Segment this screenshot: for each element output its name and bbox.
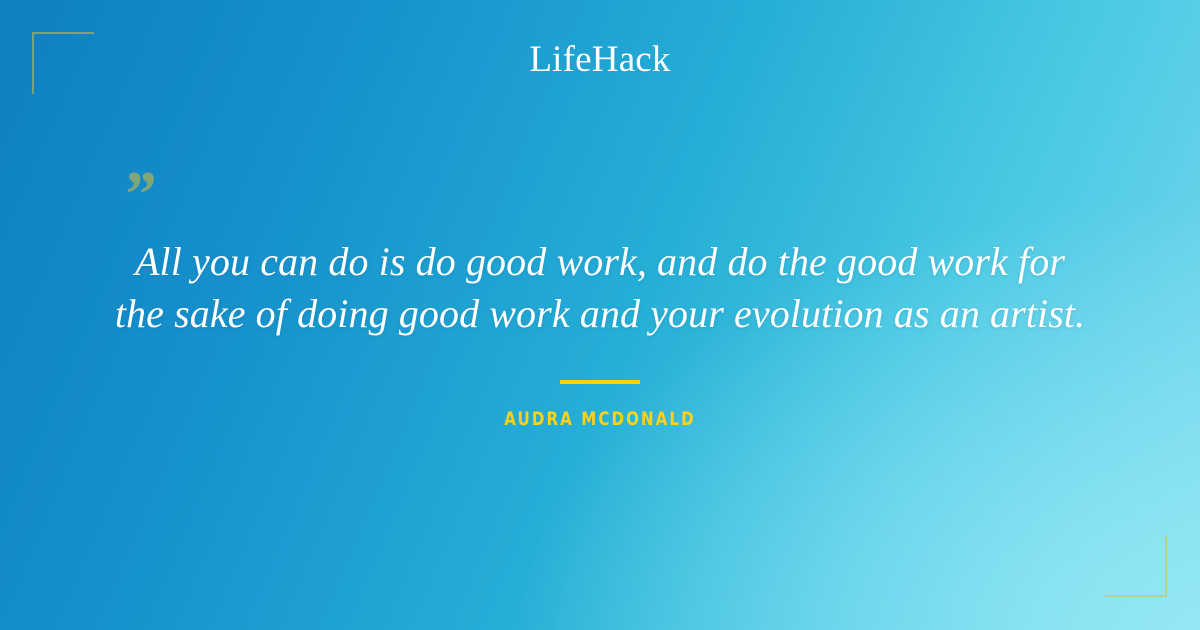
attribution: AUDRA MCDONALD xyxy=(0,380,1200,430)
quote-line: the sake of doing good work and your evo… xyxy=(60,288,1140,340)
corner-bracket-bottom-right-icon xyxy=(1105,535,1167,597)
quote-text: All you can do is do good work, and do t… xyxy=(0,236,1200,340)
quote-line: All you can do is do good work, and do t… xyxy=(60,236,1140,288)
quote-card: LifeHack ” All you can do is do good wor… xyxy=(0,0,1200,630)
author-name: AUDRA MCDONALD xyxy=(72,408,1128,430)
quotation-mark-icon: ” xyxy=(122,162,155,228)
brand-logo: LifeHack xyxy=(0,38,1200,82)
attribution-divider xyxy=(560,380,640,384)
quote-block: ” All you can do is do good work, and do… xyxy=(0,166,1200,340)
